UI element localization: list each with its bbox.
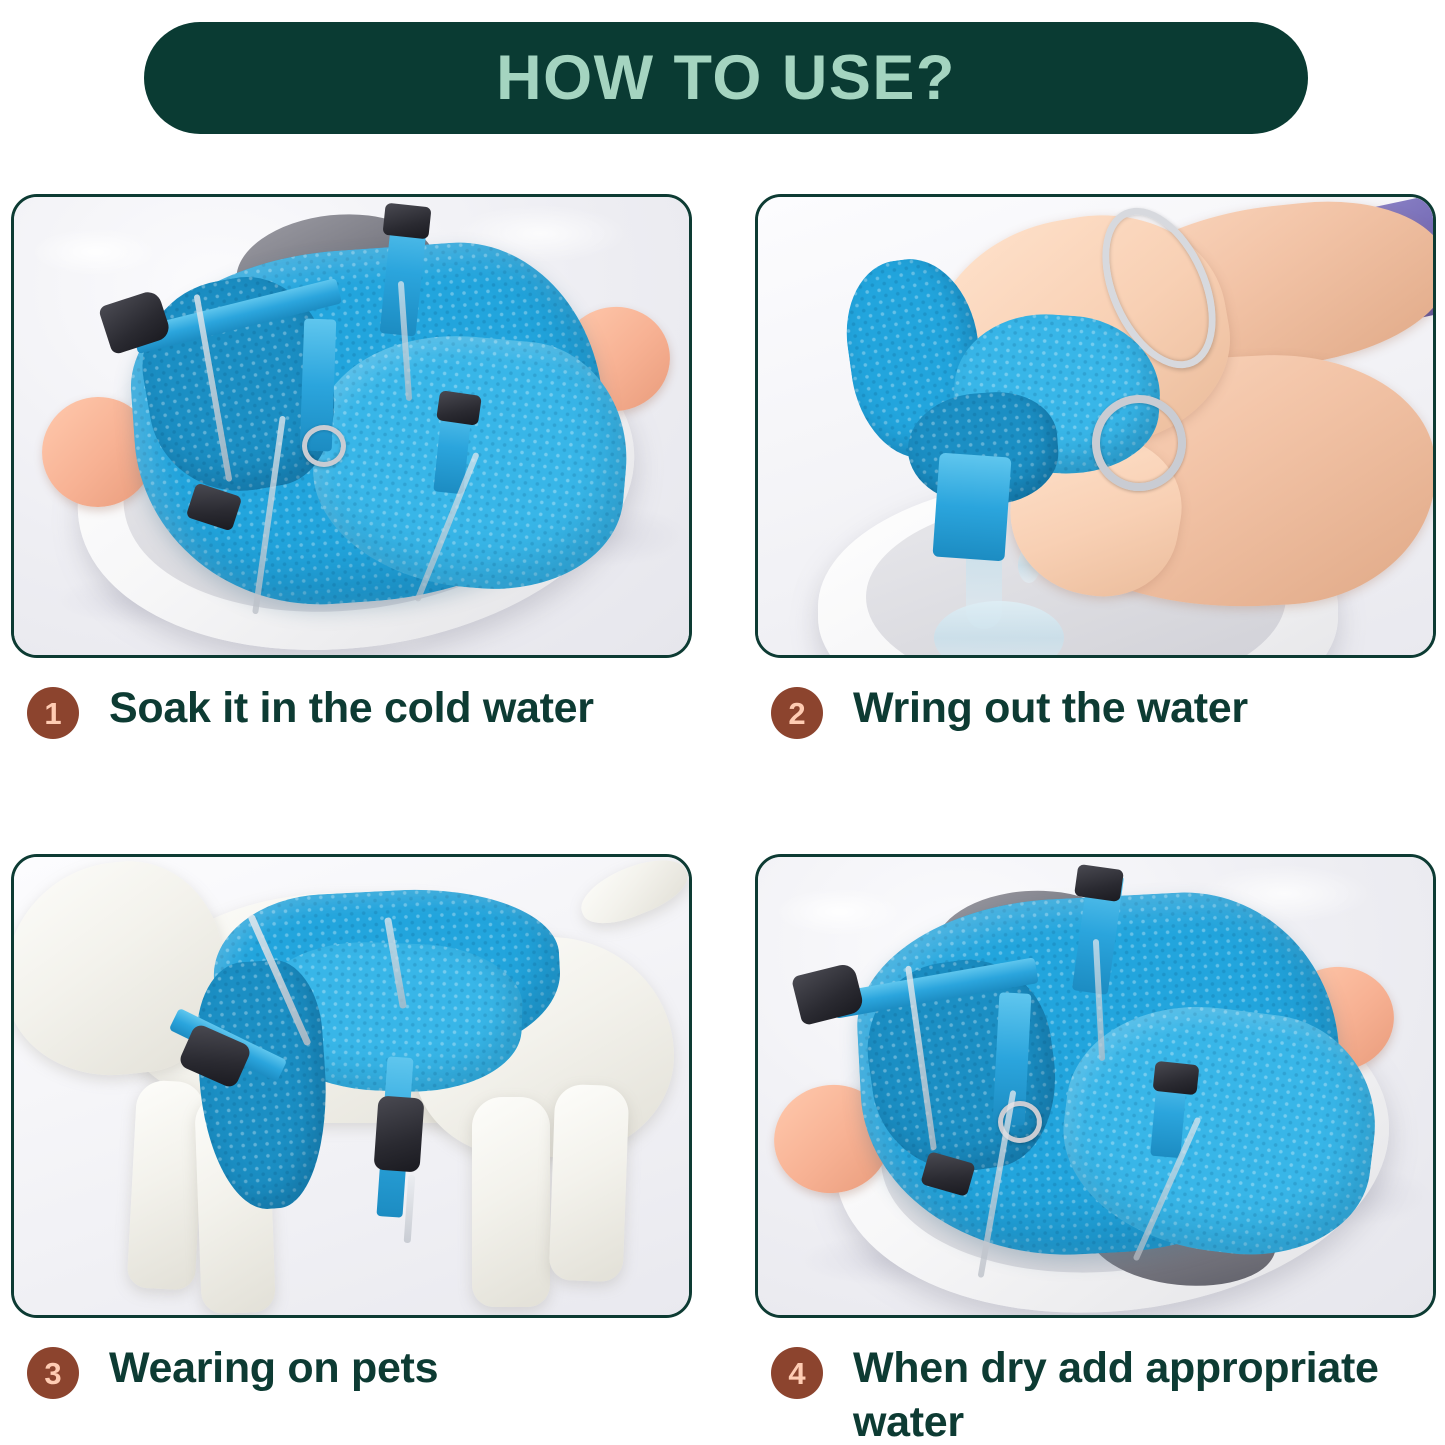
step-label: When dry add appropriate water — [853, 1342, 1436, 1445]
step-2-illustration — [758, 197, 1433, 655]
step-card-3: 3 Wearing on pets — [11, 854, 692, 1399]
step-card-2: 2 Wring out the water — [755, 194, 1436, 739]
how-to-use-infographic: HOW TO USE? — [0, 0, 1445, 1445]
steps-grid: 1 Soak it in the cold water — [0, 0, 1445, 1445]
hanging-strap — [932, 453, 1011, 562]
step-1-photo — [11, 194, 692, 658]
step-card-1: 1 Soak it in the cold water — [11, 194, 692, 739]
step-number-badge: 3 — [27, 1347, 79, 1399]
step-2-photo — [755, 194, 1436, 658]
d-ring — [302, 425, 346, 467]
step-label: Soak it in the cold water — [109, 682, 594, 736]
step-card-4: 4 When dry add appropriate water — [755, 854, 1436, 1445]
step-4-photo — [755, 854, 1436, 1318]
buckle-side — [1153, 1061, 1200, 1095]
step-3-photo — [11, 854, 692, 1318]
dog-front-leg-near — [127, 1079, 206, 1290]
harness-buckle-belly — [373, 1095, 424, 1172]
step-1-caption: 1 Soak it in the cold water — [11, 682, 692, 739]
dog-hind-leg-near — [472, 1097, 550, 1307]
buckle-top — [382, 203, 431, 240]
metal-ring — [1092, 395, 1186, 491]
step-number-badge: 1 — [27, 687, 79, 739]
step-number-badge: 4 — [771, 1347, 823, 1399]
step-number-badge: 2 — [771, 687, 823, 739]
buckle-top — [1074, 864, 1124, 902]
step-label: Wearing on pets — [109, 1342, 438, 1396]
dog-hind-leg-far — [549, 1084, 630, 1282]
step-3-illustration — [14, 857, 689, 1315]
step-2-caption: 2 Wring out the water — [755, 682, 1436, 739]
step-label: Wring out the water — [853, 682, 1248, 736]
step-3-caption: 3 Wearing on pets — [11, 1342, 692, 1399]
step-4-caption: 4 When dry add appropriate water — [755, 1342, 1436, 1445]
buckle-side — [436, 390, 482, 426]
step-1-illustration — [14, 197, 689, 655]
step-4-illustration — [758, 857, 1433, 1315]
